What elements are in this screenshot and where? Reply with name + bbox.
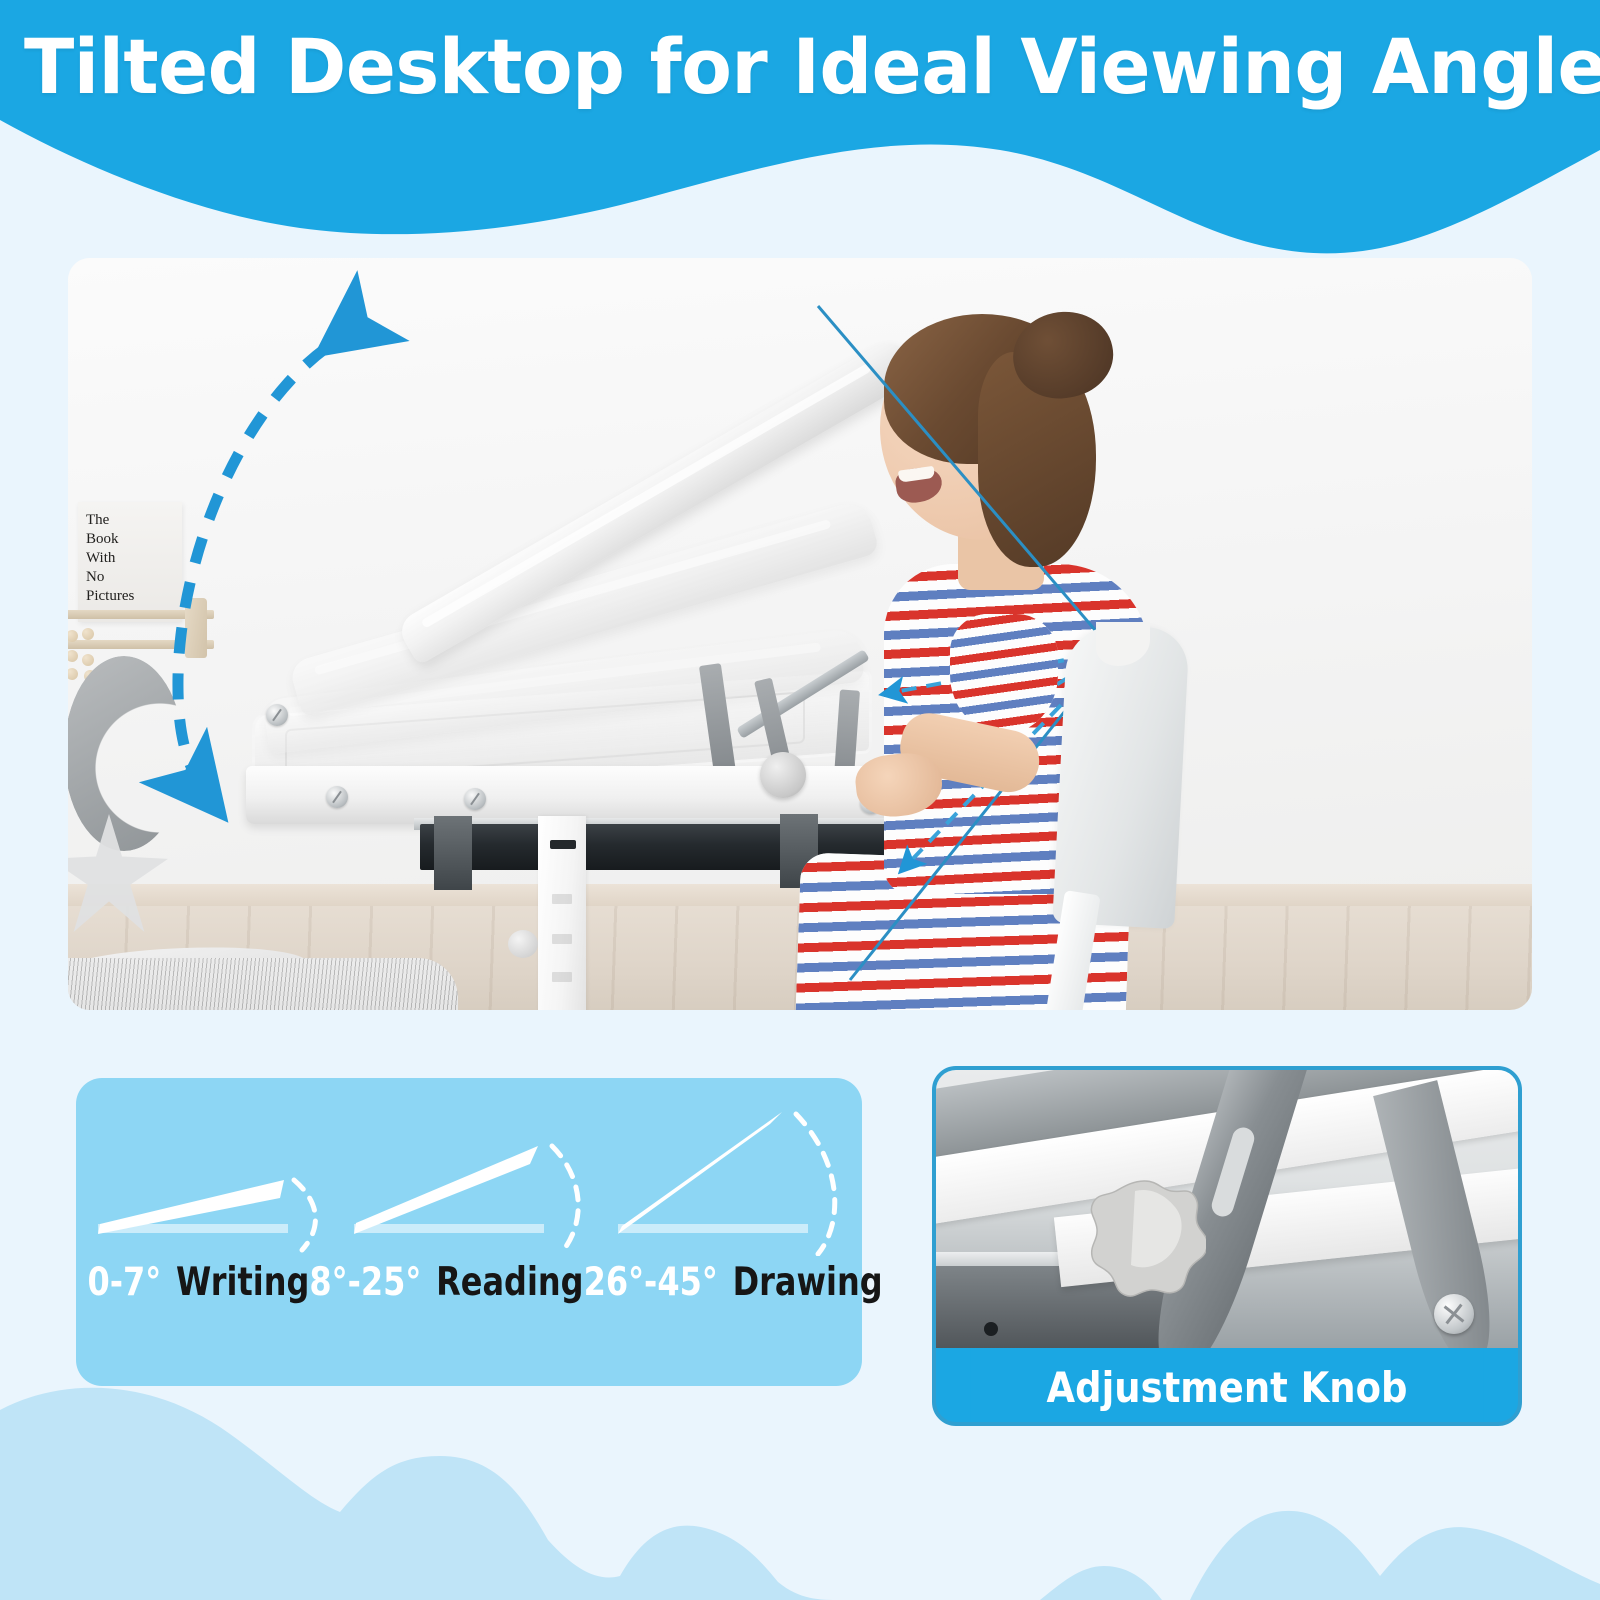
floor-rug <box>68 958 458 1010</box>
screw-icon <box>464 788 486 810</box>
screw-icon <box>1434 1294 1474 1334</box>
rail-hole <box>984 1322 998 1336</box>
height-mark <box>552 934 572 944</box>
moon-decor <box>68 656 184 851</box>
height-adjust-column <box>538 816 586 1010</box>
column-slot <box>550 840 576 849</box>
angle-labels-row: 0-7° Writing 8°-25° Reading 26°-45° Draw… <box>76 1260 721 1305</box>
angle-degrees-writing: 0-7° <box>87 1260 161 1305</box>
wooden-bead <box>82 628 94 640</box>
angle-name-writing: Writing <box>176 1260 309 1305</box>
screw-icon <box>326 786 348 808</box>
height-lock-knob[interactable] <box>508 930 538 958</box>
footer-cloud-decoration <box>0 1370 1600 1600</box>
angle-modes-panel: 0-7° Writing 8°-25° Reading 26°-45° Draw… <box>76 1078 862 1386</box>
angle-degrees-drawing: 26°-45° <box>584 1260 718 1305</box>
adjustment-knob[interactable] <box>760 752 806 798</box>
adjustment-knob-photo <box>936 1070 1518 1348</box>
height-mark <box>552 972 572 982</box>
angle-label-group-drawing: 26°-45° Drawing <box>584 1260 883 1305</box>
child-figure <box>838 292 1258 1010</box>
tilt-angle-medium-icon <box>340 1106 590 1256</box>
angle-label-group-reading: 8°-25° Reading <box>309 1260 583 1305</box>
height-mark <box>552 894 572 904</box>
dress-sleeve <box>950 614 1058 734</box>
stripe-pattern <box>950 614 1058 734</box>
footer-cloud-shape <box>0 1370 1600 1600</box>
angle-name-drawing: Drawing <box>733 1260 883 1305</box>
shelf-end-cap <box>185 598 207 658</box>
angle-name-reading: Reading <box>436 1260 583 1305</box>
page-title: Tilted Desktop for Ideal Viewing Angle <box>24 22 1576 111</box>
wooden-bead <box>82 654 94 666</box>
page-header: Tilted Desktop for Ideal Viewing Angle <box>0 0 1600 260</box>
knob-closeup-icon[interactable] <box>1084 1178 1206 1308</box>
angle-label-group-writing: 0-7° Writing <box>87 1260 309 1305</box>
chair-backrest <box>1052 623 1190 929</box>
tilt-angle-high-icon <box>604 1106 854 1256</box>
book-cover: The Book With No Pictures <box>78 502 182 622</box>
angle-degrees-reading: 8°-25° <box>309 1260 421 1305</box>
screw-icon <box>266 704 288 726</box>
tilt-angle-low-icon <box>84 1106 334 1256</box>
book-title-text: The Book With No Pictures <box>86 511 178 606</box>
frame-leg-bracket <box>434 816 472 890</box>
hero-photo: The Book With No Pictures <box>68 258 1532 1010</box>
angle-icons-row <box>76 1106 862 1256</box>
